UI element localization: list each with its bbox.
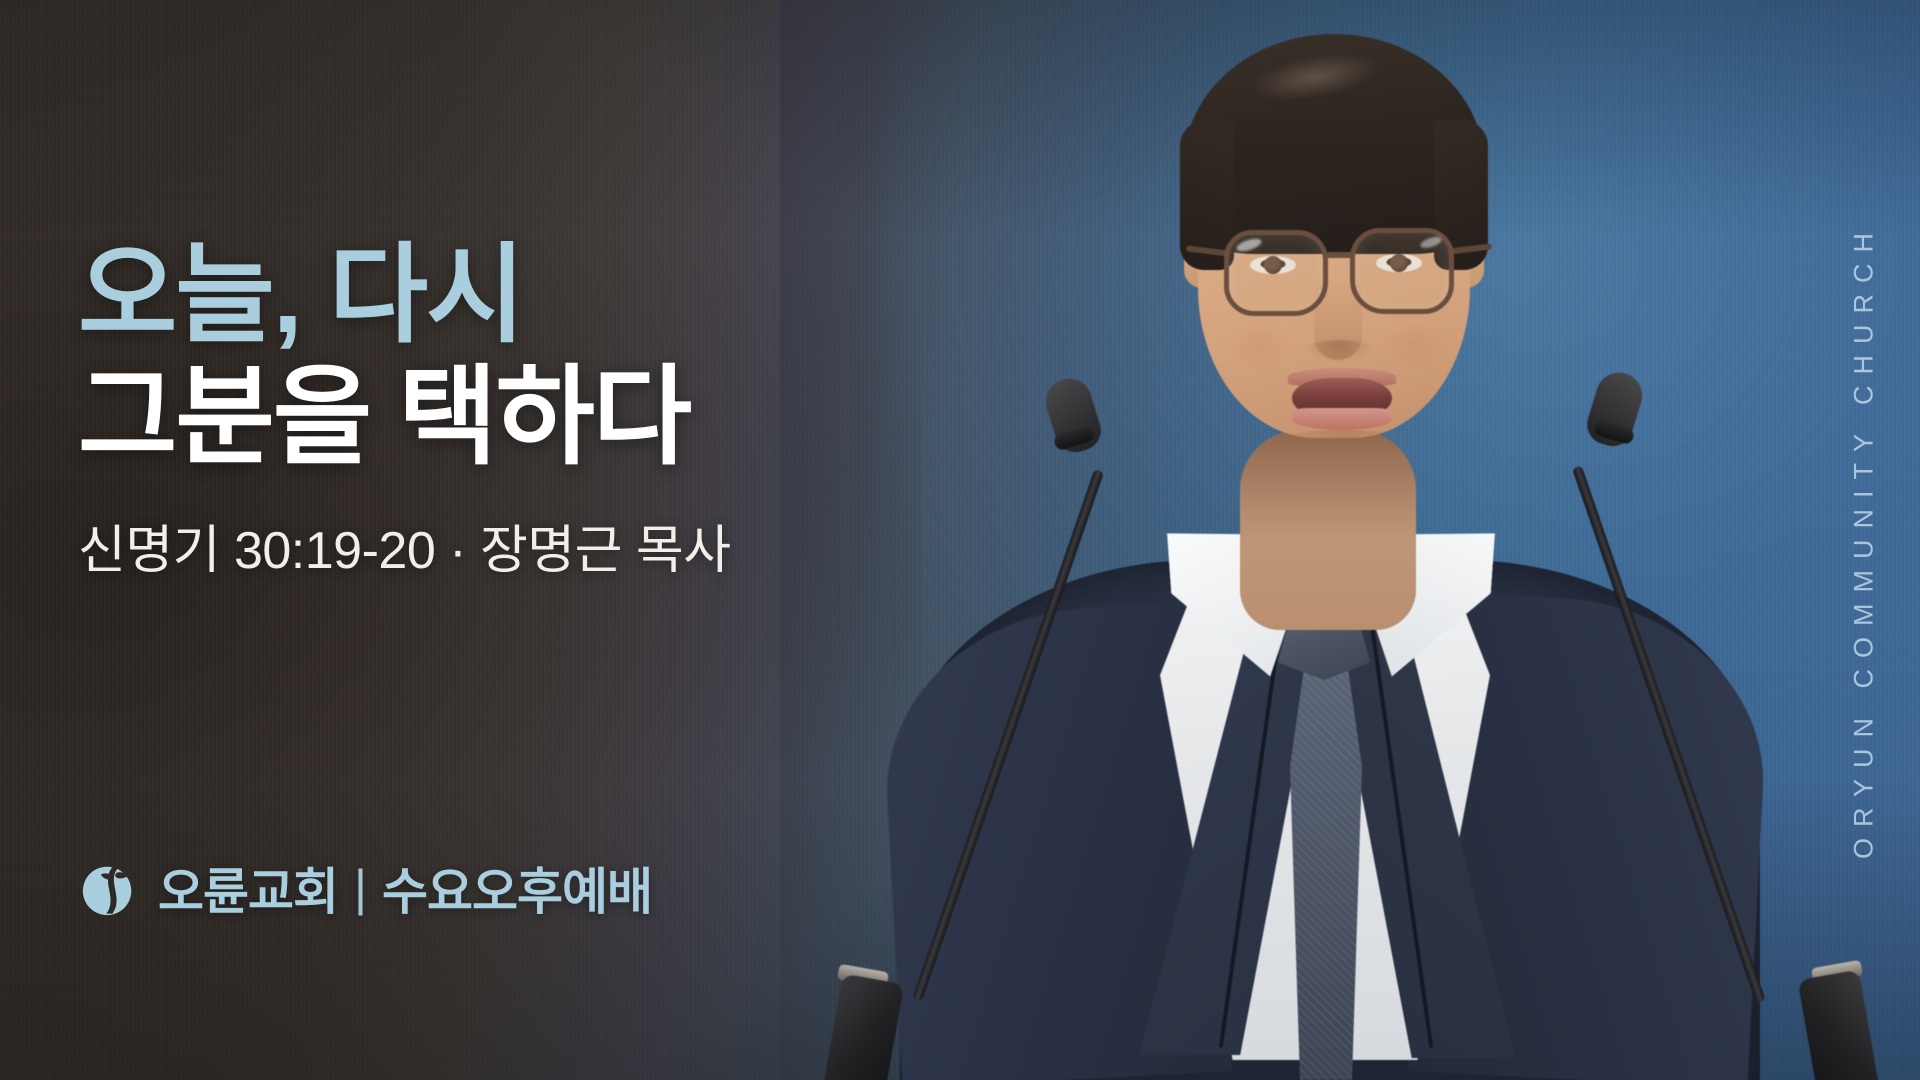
- sermon-scripture-and-speaker: 신명기 30:19-20 · 장명근 목사: [78, 508, 978, 583]
- sermon-title-line-1: 오늘, 다시: [78, 236, 978, 355]
- microphone-base-right: [1798, 970, 1881, 1080]
- church-name: 오륜교회: [158, 852, 338, 924]
- brand-separator: |: [354, 859, 366, 917]
- sermon-title-line-2: 그분을 택하다: [78, 357, 978, 478]
- sermon-text-block: 오늘, 다시 그분을 택하다 신명기 30:19-20 · 장명근 목사: [78, 236, 978, 583]
- speaker-cheek-left: [1224, 320, 1294, 372]
- brand-text-lockup: 오륜교회 | 수요오후예배: [158, 852, 652, 924]
- church-circle-logo-icon: [78, 857, 140, 919]
- eyeglasses-bridge: [1326, 252, 1354, 258]
- service-name: 수요오후예배: [382, 852, 652, 924]
- church-brand-lockup: 오륜교회 | 수요오후예배: [78, 852, 652, 924]
- slide-stage: ORYUN COMMUNITY CHURCH: [0, 0, 1920, 1080]
- speaker-cheek-right: [1380, 318, 1450, 370]
- speaker-nose-shadow: [1304, 340, 1374, 362]
- speaker-lower-lip: [1292, 408, 1392, 430]
- speaker-chin-shadow: [1266, 430, 1416, 460]
- microphone-base-left: [822, 974, 904, 1080]
